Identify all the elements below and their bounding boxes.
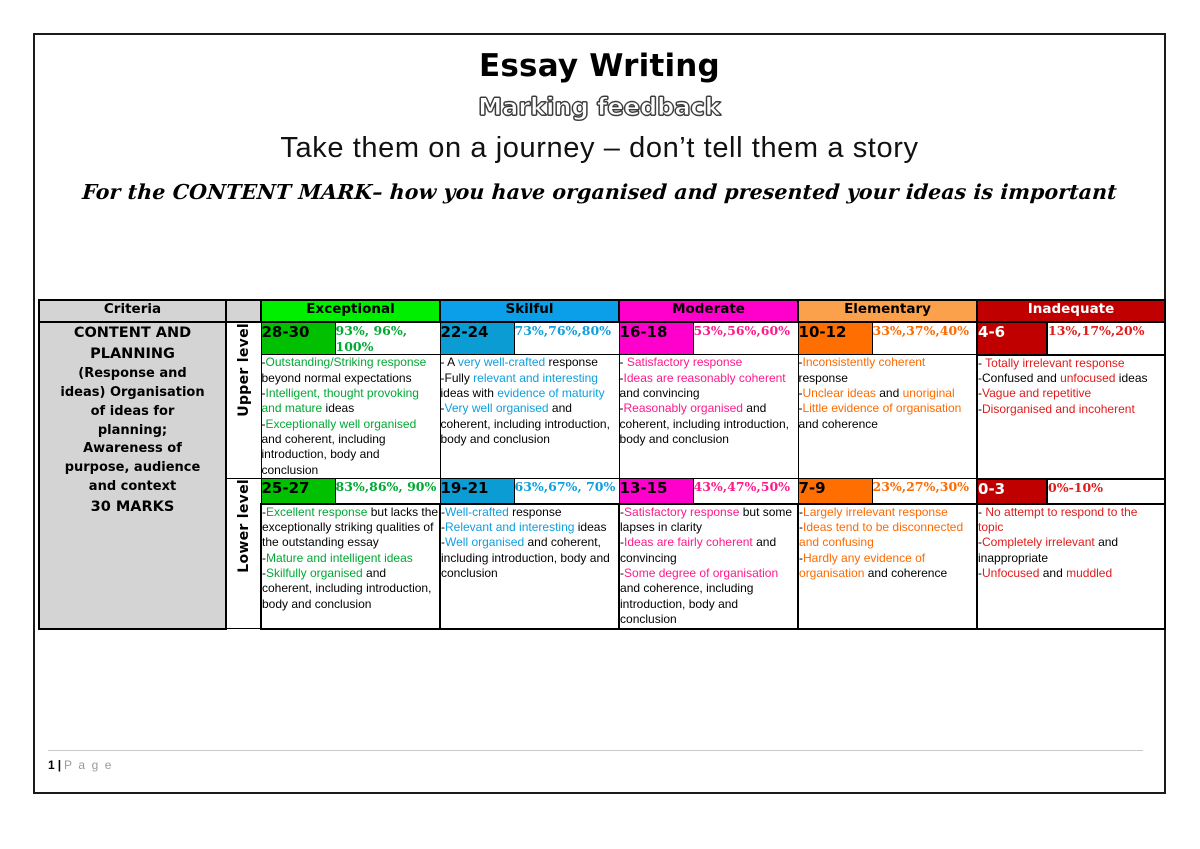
footer-divider xyxy=(48,750,1143,751)
descriptor-line: -Little evidence of organisation and coh… xyxy=(799,401,977,432)
footer-page-word: P a g e xyxy=(64,758,113,772)
footer-page-number: 1 xyxy=(48,758,55,772)
percent-upper-skilful: 73%,76%,80% xyxy=(514,322,619,355)
band-header-skilful: Skilful xyxy=(440,300,619,322)
score-lower-exceptional: 25-27 xyxy=(261,479,335,504)
score-lower-skilful: 19-21 xyxy=(440,479,514,504)
criteria-line-4: ideas) Organisation xyxy=(40,384,225,403)
descriptor-line: -Fully relevant and interesting ideas wi… xyxy=(441,371,619,402)
descriptor-line: -Hardly any evidence of organisation and… xyxy=(799,551,976,582)
document-page: Essay Writing Marking feedback Take them… xyxy=(33,33,1166,794)
score-upper-moderate: 16-18 xyxy=(619,322,693,355)
descriptor-lower-exceptional: -Excellent response but lacks the except… xyxy=(261,504,440,629)
band-header-elementary: Elementary xyxy=(798,300,977,322)
percent-upper-elementary: 33%,37%,40% xyxy=(872,322,977,355)
percent-upper-exceptional: 93%, 96%, 100% xyxy=(335,322,440,355)
level-label-lower: Lower level xyxy=(226,479,261,629)
descriptor-line: -Reasonably organised and coherent, incl… xyxy=(620,401,798,447)
descriptor-line: -Inconsistently coherent response xyxy=(799,355,977,386)
descriptor-upper-moderate: - Satisfactory response-Ideas are reason… xyxy=(619,355,798,479)
descriptor-line: -Unfocused and muddled xyxy=(978,566,1164,581)
header-level-spacer xyxy=(226,300,261,322)
descriptor-line: - No attempt to respond to the topic xyxy=(978,505,1164,536)
descriptor-line: -Ideas are reasonably coherent and convi… xyxy=(620,371,798,402)
descriptor-line: -Largely irrelevant response xyxy=(799,505,976,520)
page-title: Essay Writing xyxy=(35,49,1164,84)
band-header-inadequate: Inadequate xyxy=(977,300,1165,322)
descriptor-line: -Very well organised and coherent, inclu… xyxy=(441,401,619,447)
percent-upper-moderate: 53%,56%,60% xyxy=(693,322,798,355)
level-label-upper-text: Upper level xyxy=(236,323,252,417)
descriptor-line: -Vague and repetitive xyxy=(978,386,1164,401)
header-criteria: Criteria xyxy=(39,300,226,322)
title-block: Essay Writing Marking feedback Take them… xyxy=(35,35,1164,205)
descriptor-lower-elementary: -Largely irrelevant response-Ideas tend … xyxy=(798,504,977,629)
page-footer: 1|P a g e xyxy=(48,750,1143,772)
descriptor-upper-skilful: - A very well-crafted response-Fully rel… xyxy=(440,355,619,479)
score-upper-exceptional: 28-30 xyxy=(261,322,335,355)
level-label-lower-text: Lower level xyxy=(236,479,252,573)
descriptor-line: -Mature and intelligent ideas xyxy=(262,551,439,566)
descriptor-line: -Well-crafted response xyxy=(441,505,618,520)
descriptor-line: -Unclear ideas and unoriginal xyxy=(799,386,977,401)
rubric-table: Criteria Exceptional Skilful Moderate El… xyxy=(38,299,1166,630)
criteria-total-marks: 30 MARKS xyxy=(40,497,225,518)
band-header-exceptional: Exceptional xyxy=(261,300,440,322)
percent-upper-inadequate: 13%,17%,20% xyxy=(1047,322,1165,355)
descriptor-line: -Satisfactory response but some lapses i… xyxy=(620,505,797,536)
percent-lower-inadequate: 0%-10% xyxy=(1047,479,1165,504)
score-upper-elementary: 10-12 xyxy=(798,322,872,355)
descriptor-line: - Satisfactory response xyxy=(620,355,798,370)
criteria-cell: CONTENT AND PLANNING (Response and ideas… xyxy=(39,322,226,629)
tagline: Take them on a journey – don’t tell them… xyxy=(35,132,1164,165)
upper-score-row: CONTENT AND PLANNING (Response and ideas… xyxy=(39,322,1165,355)
descriptor-upper-elementary: -Inconsistently coherent response-Unclea… xyxy=(798,355,977,479)
descriptor-line: -Ideas tend to be disconnected and confu… xyxy=(799,520,976,551)
rubric-table-wrapper: Criteria Exceptional Skilful Moderate El… xyxy=(38,299,1129,630)
rubric-header-row: Criteria Exceptional Skilful Moderate El… xyxy=(39,300,1165,322)
descriptor-line: -Exceptionally well organised and cohere… xyxy=(262,417,440,478)
descriptor-line: -Disorganised and incoherent xyxy=(978,402,1164,417)
content-mark-note: For the CONTENT MARK– how you have organ… xyxy=(34,181,1165,205)
score-lower-elementary: 7-9 xyxy=(798,479,872,504)
criteria-line-5: of ideas for xyxy=(40,403,225,422)
score-upper-inadequate: 4-6 xyxy=(977,322,1047,355)
descriptor-lower-moderate: -Satisfactory response but some lapses i… xyxy=(619,504,798,629)
descriptor-line: -Completely irrelevant and inappropriate xyxy=(978,535,1164,566)
criteria-line-7: Awareness of xyxy=(40,440,225,459)
score-upper-skilful: 22-24 xyxy=(440,322,514,355)
footer-page-indicator: 1|P a g e xyxy=(48,758,1143,772)
descriptor-line: -Outstanding/Striking response beyond no… xyxy=(262,355,440,386)
criteria-line-9: and context xyxy=(40,478,225,497)
percent-lower-skilful: 63%,67%, 70% xyxy=(514,479,619,504)
descriptor-line: -Excellent response but lacks the except… xyxy=(262,505,439,551)
descriptor-line: -Well organised and coherent, including … xyxy=(441,535,618,581)
descriptor-line: -Relevant and interesting ideas xyxy=(441,520,618,535)
descriptor-line: -Skilfully organised and coherent, inclu… xyxy=(262,566,439,612)
page-subtitle: Marking feedback xyxy=(35,94,1164,120)
descriptor-upper-exceptional: -Outstanding/Striking response beyond no… xyxy=(261,355,440,479)
descriptor-line: -Intelligent, thought provoking and matu… xyxy=(262,386,440,417)
criteria-line-6: planning; xyxy=(40,422,225,441)
criteria-line-1: CONTENT AND xyxy=(40,323,225,344)
score-lower-moderate: 13-15 xyxy=(619,479,693,504)
descriptor-line: -Ideas are fairly coherent and convincin… xyxy=(620,535,797,566)
descriptor-lower-skilful: -Well-crafted response-Relevant and inte… xyxy=(440,504,619,629)
percent-lower-exceptional: 83%,86%, 90% xyxy=(335,479,440,504)
descriptor-line: - Totally irrelevant response xyxy=(978,356,1164,371)
descriptor-line: - A very well-crafted response xyxy=(441,355,619,370)
descriptor-lower-inadequate: - No attempt to respond to the topic-Com… xyxy=(977,504,1165,629)
criteria-line-8: purpose, audience xyxy=(40,459,225,478)
descriptor-line: -Confused and unfocused ideas xyxy=(978,371,1164,386)
percent-lower-moderate: 43%,47%,50% xyxy=(693,479,798,504)
criteria-line-3: (Response and xyxy=(40,365,225,384)
criteria-line-2: PLANNING xyxy=(40,344,225,365)
footer-separator: | xyxy=(55,758,64,772)
level-label-upper: Upper level xyxy=(226,322,261,479)
descriptor-upper-inadequate: - Totally irrelevant response-Confused a… xyxy=(977,355,1165,479)
percent-lower-elementary: 23%,27%,30% xyxy=(872,479,977,504)
score-lower-inadequate: 0-3 xyxy=(977,479,1047,504)
descriptor-line: -Some degree of organisation and coheren… xyxy=(620,566,797,627)
band-header-moderate: Moderate xyxy=(619,300,798,322)
